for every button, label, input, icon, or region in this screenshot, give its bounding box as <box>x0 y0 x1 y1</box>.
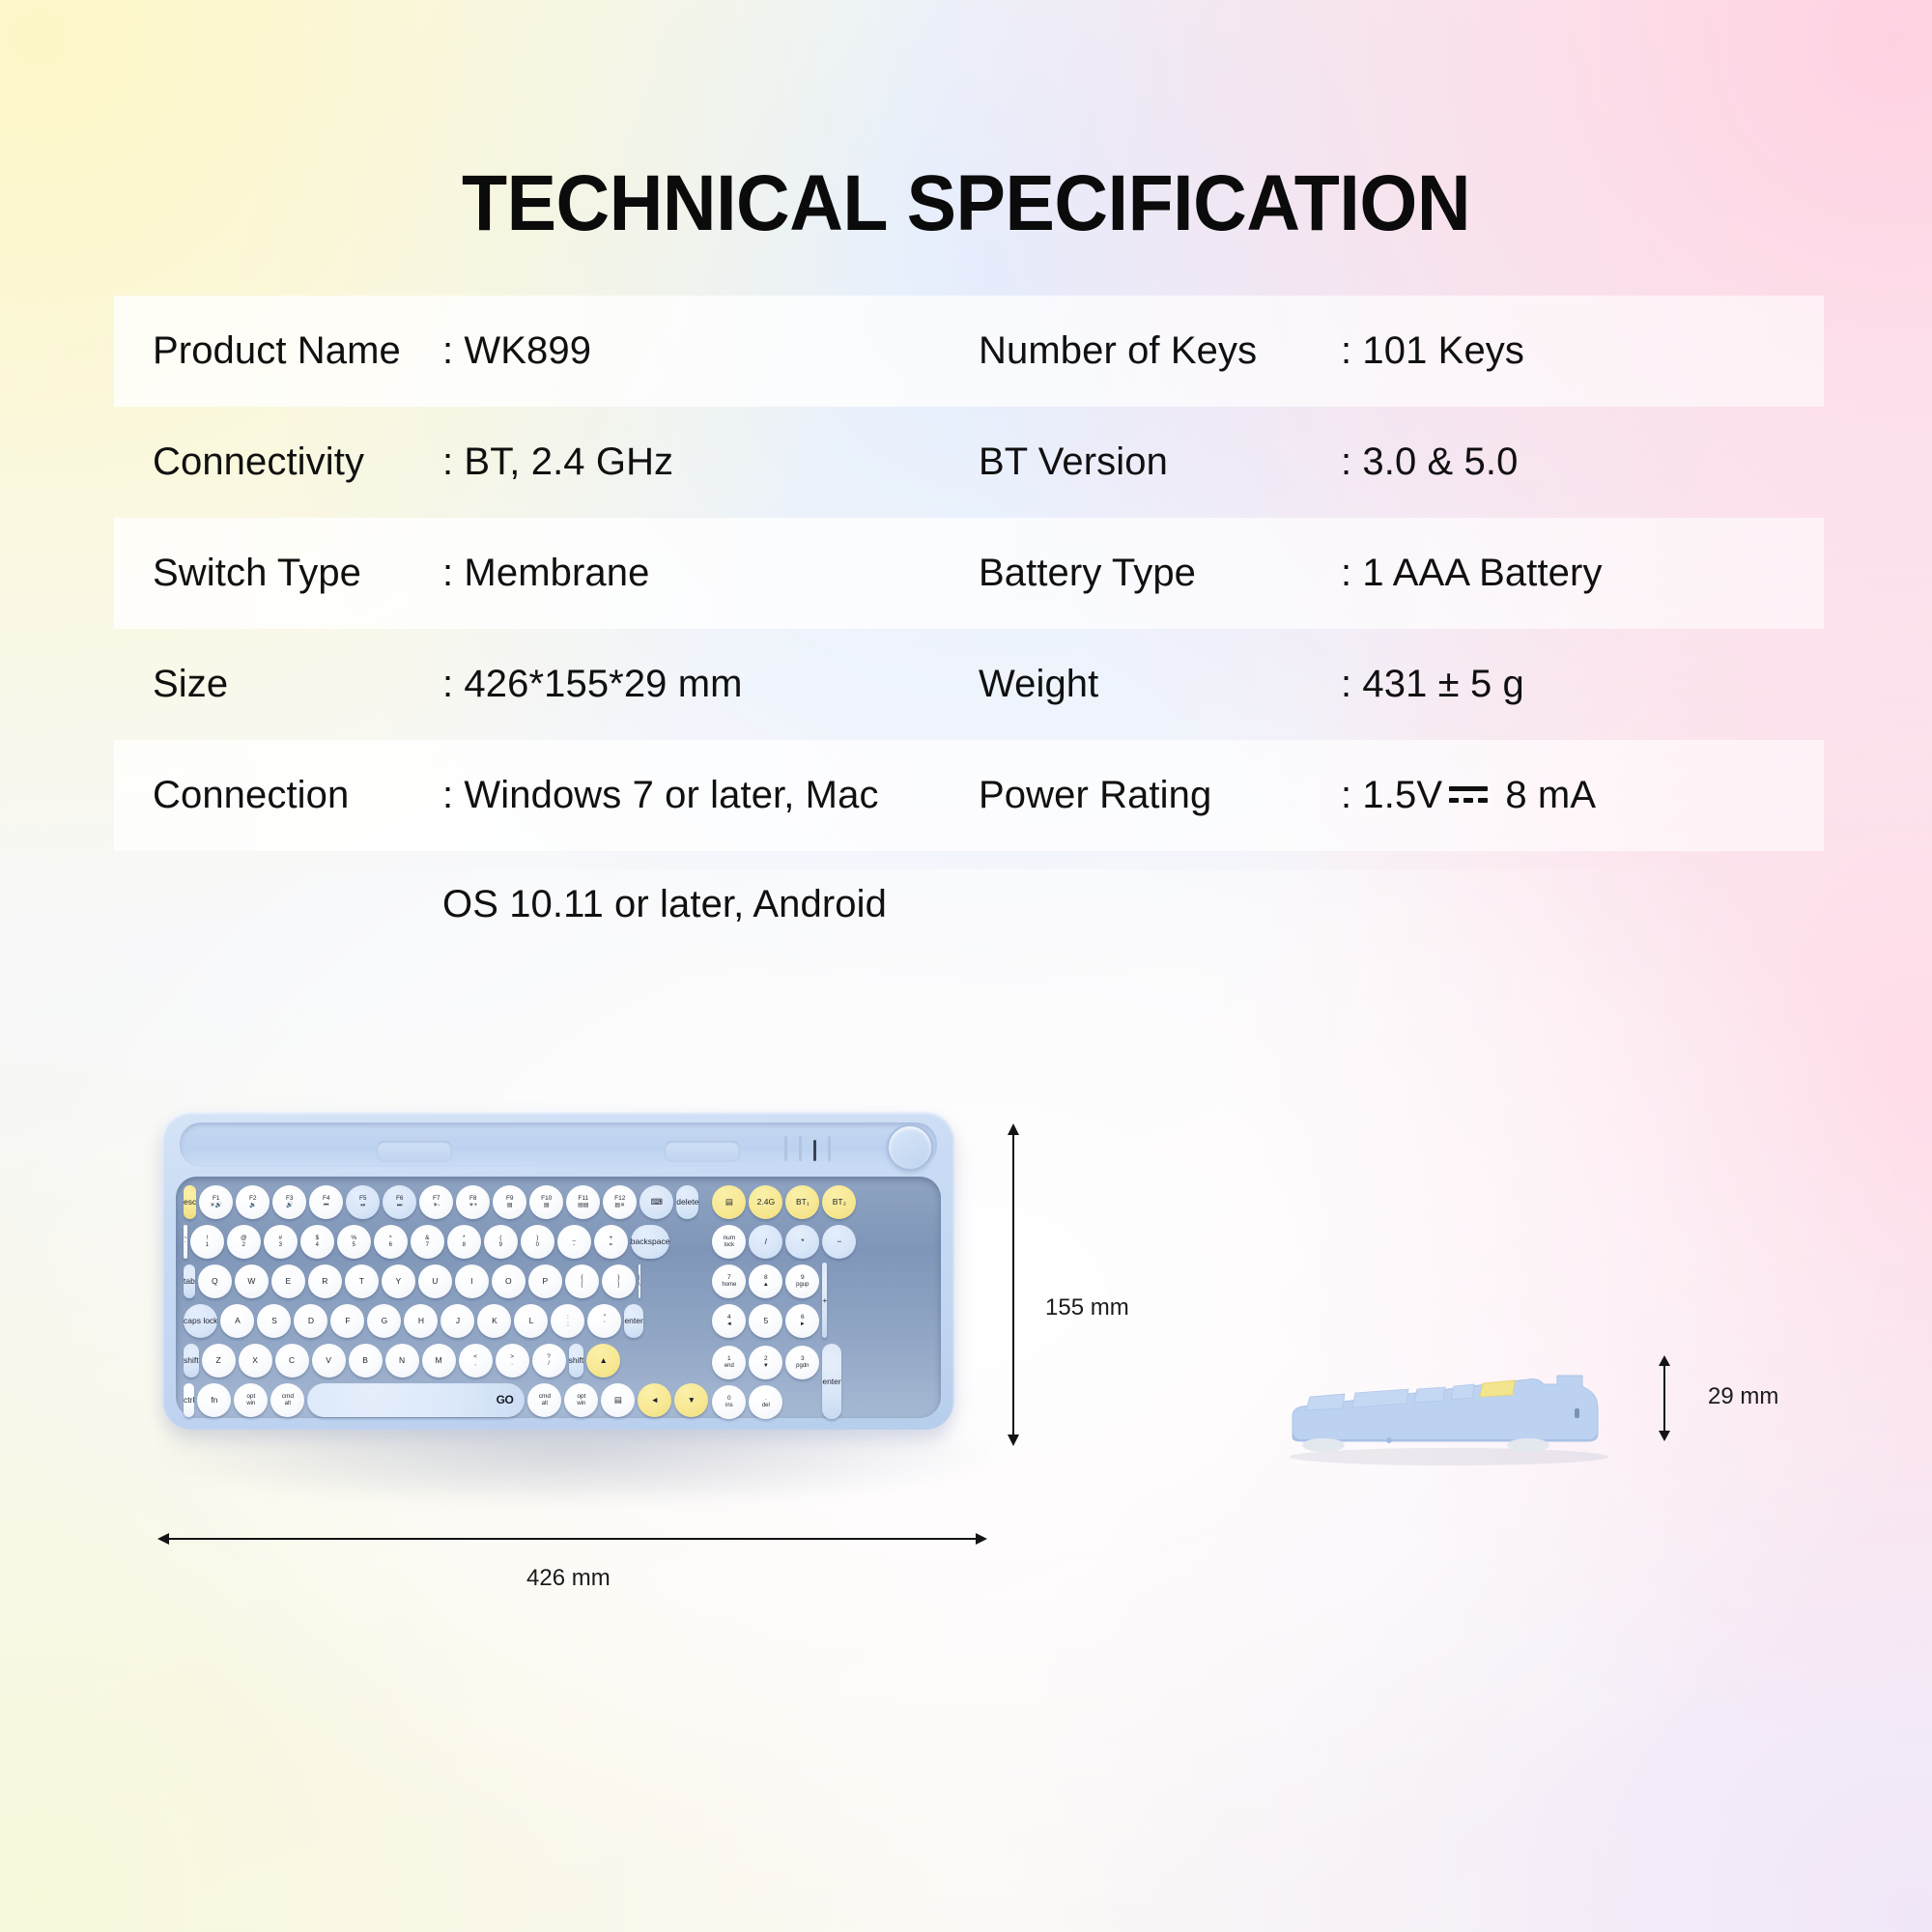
key-2[interactable]: 2▼ <box>749 1346 782 1379</box>
key-top-legend: ? <box>547 1354 551 1361</box>
key-top-legend: } <box>617 1275 619 1282</box>
key-[interactable]: ?/ <box>532 1344 566 1378</box>
key-top-legend: opt <box>246 1394 255 1401</box>
spec-value: : BT, 2.4 GHz <box>442 440 673 484</box>
key-top-legend: cmd <box>539 1394 551 1401</box>
key-top-legend: F11 <box>578 1196 588 1203</box>
key-[interactable]: ⌨ <box>639 1185 673 1219</box>
key-q[interactable]: Q <box>198 1264 232 1298</box>
height-dimension-arrow <box>1012 1125 1014 1444</box>
key-sub-legend: ► <box>800 1321 806 1327</box>
key-sub-legend: home <box>722 1282 736 1288</box>
key-8[interactable]: 8▲ <box>749 1264 782 1298</box>
key-[interactable]: }] <box>602 1264 636 1298</box>
key-legend: fn <box>211 1396 217 1405</box>
key-legend: delete <box>676 1198 698 1207</box>
key-top-legend: F8 <box>469 1196 477 1203</box>
key-top-legend: ! <box>206 1236 208 1242</box>
key-[interactable]: {[ <box>565 1264 599 1298</box>
key-cmd-alt[interactable]: cmdalt <box>527 1383 561 1417</box>
key-5[interactable]: %5 <box>337 1225 371 1259</box>
key-6[interactable]: ^6 <box>374 1225 408 1259</box>
key-m[interactable]: M <box>422 1344 456 1378</box>
numpad-enter-block: 1end2▼3pgdn0ins.delenter <box>712 1344 856 1423</box>
key-8[interactable]: *8 <box>447 1225 481 1259</box>
key-sub-legend: ; <box>567 1321 569 1327</box>
key-legend: C <box>289 1356 295 1365</box>
spec-label: Connectivity <box>153 440 364 484</box>
key-top-legend: . <box>765 1396 767 1403</box>
key-[interactable]: += <box>594 1225 628 1259</box>
keyboard-deck: escF1✕🔊F2🔉F3🔊F4⏮F5⏯F6⏭F7☀-F8☀+F9▤F10▤F11… <box>176 1177 941 1418</box>
width-dimension-arrow <box>159 1538 985 1540</box>
key-top-legend: F4 <box>323 1196 330 1203</box>
spec-label: Number of Keys <box>979 329 1257 373</box>
key-j[interactable]: J <box>440 1304 474 1338</box>
dc-power-icon <box>1449 786 1488 803</box>
key-h[interactable]: H <box>404 1304 438 1338</box>
key-sub-legend: ' <box>604 1321 605 1327</box>
spec-value: : 101 Keys <box>1341 329 1524 373</box>
key-legend: BT₁ <box>796 1198 810 1207</box>
key-legend: E <box>285 1277 291 1286</box>
key-top-legend: $ <box>315 1236 319 1242</box>
key-top-legend: 7 <box>727 1275 731 1282</box>
key-1[interactable]: !1 <box>190 1225 224 1259</box>
spec-value: : 426*155*29 mm <box>442 663 743 706</box>
modifier-row: ctrlfnoptwincmdaltGOcmdaltoptwin▤◄▼ <box>184 1381 708 1419</box>
key-legend: ▤ <box>725 1198 733 1207</box>
key-backspace[interactable]: backspace <box>631 1225 670 1259</box>
height-dimension-label: 155 mm <box>1045 1294 1129 1321</box>
width-dimension-label: 426 mm <box>526 1565 611 1592</box>
key-sub-legend: / <box>548 1361 550 1367</box>
qwerty-row: tabQWERTYUIOP{[}]|\ <box>184 1263 708 1300</box>
key-sub-legend: ` <box>185 1242 186 1248</box>
key-top-legend: F2 <box>249 1196 257 1203</box>
key-[interactable]: + <box>822 1263 827 1338</box>
led-indicator-icon <box>784 1126 871 1161</box>
key-[interactable]: ▼ <box>674 1383 708 1417</box>
spec-value: : Membrane <box>442 552 649 595</box>
key-i[interactable]: I <box>455 1264 489 1298</box>
key-top-legend: 2 <box>764 1356 768 1363</box>
key-opt-win[interactable]: optwin <box>564 1383 598 1417</box>
key-top-legend: F7 <box>433 1196 440 1203</box>
key-top-legend: 4 <box>727 1315 731 1321</box>
spec-value: : 3.0 & 5.0 <box>1341 440 1518 484</box>
key-legend: M <box>436 1356 442 1365</box>
key-top-legend: > <box>510 1354 514 1361</box>
key-caps-lock[interactable]: caps lock <box>184 1304 217 1338</box>
key-l[interactable]: L <box>514 1304 548 1338</box>
key-sub-legend: ◄ <box>726 1321 732 1327</box>
key-top-legend: # <box>278 1236 282 1242</box>
key-legend: V <box>326 1356 331 1365</box>
key-y[interactable]: Y <box>382 1264 415 1298</box>
key-num-lock[interactable]: numlock <box>712 1225 746 1259</box>
key-top-legend: F1 <box>213 1196 220 1203</box>
key-top-legend: F6 <box>396 1196 404 1203</box>
key-sub-legend: = <box>610 1242 613 1248</box>
key-legend: BT₂ <box>833 1198 846 1207</box>
key-legend: Q <box>212 1277 218 1286</box>
key-legend: shift <box>184 1356 199 1365</box>
key-legend: L <box>529 1317 534 1325</box>
key-sub-legend: pgup <box>796 1282 809 1288</box>
key-[interactable]: ~` <box>184 1225 187 1259</box>
spec-row: Product Name: WK899Number of Keys: 101 K… <box>114 296 1824 407</box>
key-legend: shift <box>569 1356 584 1365</box>
key-legend: N <box>399 1356 405 1365</box>
key-d[interactable]: D <box>294 1304 327 1338</box>
key-sub-legend: end <box>724 1363 734 1369</box>
key-sub-legend: ☀+ <box>469 1203 477 1208</box>
keyboard-side-view <box>1285 1352 1613 1468</box>
key-go[interactable]: GO <box>307 1383 525 1417</box>
key-sub-legend: win <box>577 1401 585 1406</box>
key-f8[interactable]: F8☀+ <box>456 1185 490 1219</box>
key-legend: + <box>822 1296 827 1305</box>
key-legend: S <box>271 1317 277 1325</box>
key-shift[interactable]: shift <box>184 1344 199 1378</box>
key-[interactable]: >. <box>496 1344 529 1378</box>
key-f2[interactable]: F2🔉 <box>236 1185 270 1219</box>
key-legend: P <box>542 1277 548 1286</box>
key-top-legend: < <box>473 1354 477 1361</box>
page-title: TECHNICAL SPECIFICATION <box>58 158 1874 249</box>
key-enter[interactable]: enter <box>624 1304 642 1338</box>
brand-label: GO <box>497 1394 514 1406</box>
key-top-legend: num <box>724 1236 736 1242</box>
numpad-row-5: 0ins.del <box>712 1383 819 1421</box>
key-sub-legend: ins <box>725 1403 733 1408</box>
spec-value: : WK899 <box>442 329 591 373</box>
key-top-legend: 6 <box>801 1315 805 1321</box>
key-legend: ◄ <box>651 1396 659 1405</box>
key-w[interactable]: W <box>235 1264 269 1298</box>
key-top-legend: ^ <box>389 1236 392 1242</box>
key-f5[interactable]: F5⏯ <box>346 1185 380 1219</box>
spec-label: Battery Type <box>979 552 1196 595</box>
key-0[interactable]: )0 <box>521 1225 554 1259</box>
key-sub-legend: 2 <box>242 1242 245 1248</box>
key-legend: X <box>252 1356 258 1365</box>
key-sub-legend: - <box>573 1242 575 1248</box>
key-bt[interactable]: BT₂ <box>822 1185 856 1219</box>
key-legend: Y <box>395 1277 401 1286</box>
key-[interactable]: ▲ <box>586 1344 620 1378</box>
key-4[interactable]: $4 <box>300 1225 334 1259</box>
specification-table: Product Name: WK899Number of Keys: 101 K… <box>114 296 1824 851</box>
key-k[interactable]: K <box>477 1304 511 1338</box>
key-[interactable]: ▤ <box>601 1383 635 1417</box>
key-sub-legend: 🔊 <box>286 1203 293 1208</box>
key-top-legend: 3 <box>801 1356 805 1363</box>
key-sub-legend: 7 <box>426 1242 429 1248</box>
key-v[interactable]: V <box>312 1344 346 1378</box>
key-[interactable]: − <box>822 1225 856 1259</box>
key-legend: tab <box>184 1277 195 1286</box>
key-u[interactable]: U <box>418 1264 452 1298</box>
spec-label: BT Version <box>979 440 1168 484</box>
spec-value: : Windows 7 or later, Mac <box>442 774 879 817</box>
connection-continuation-row: OS 10.11 or later, Android <box>114 851 1824 957</box>
key-legend: F <box>345 1317 350 1325</box>
key-legend: backspace <box>631 1237 670 1246</box>
key-sub-legend: ▤▤ <box>578 1203 588 1208</box>
key-legend: Z <box>215 1356 220 1365</box>
key-legend: R <box>322 1277 327 1286</box>
connection-continuation-text: OS 10.11 or later, Android <box>442 883 887 926</box>
key-legend: * <box>801 1237 804 1246</box>
key-top-legend: " <box>604 1315 606 1321</box>
key-legend: J <box>456 1317 460 1325</box>
key-top-legend: _ <box>572 1236 576 1242</box>
key-top-legend: 0 <box>727 1396 731 1403</box>
key-1-end[interactable]: 1end <box>712 1346 746 1379</box>
key-sub-legend: ☀- <box>433 1203 440 1208</box>
key-cmd-alt[interactable]: cmdalt <box>270 1383 304 1417</box>
key-sub-legend: , <box>474 1361 476 1367</box>
key-legend: O <box>505 1277 512 1286</box>
key-top-legend: F12 <box>614 1196 625 1203</box>
key-legend: ▤ <box>614 1396 622 1405</box>
numpad-row-4: 1end2▼3pgdn <box>712 1344 819 1381</box>
key-sub-legend: ▤ <box>544 1203 550 1208</box>
key-7-home[interactable]: 7home <box>712 1264 746 1298</box>
key-[interactable]: <, <box>459 1344 493 1378</box>
key-z[interactable]: Z <box>202 1344 236 1378</box>
spec-row: Switch Type: MembraneBattery Type: 1 AAA… <box>114 518 1824 629</box>
spec-label: Size <box>153 663 228 706</box>
key-b[interactable]: B <box>349 1344 383 1378</box>
key-sub-legend: lock <box>724 1242 735 1248</box>
key-[interactable]: ▤ <box>712 1185 746 1219</box>
key-legend: enter <box>822 1378 840 1386</box>
keyboard-numpad-block: ▤2.4GBT₁BT₂numlock/*−7home8▲9pgup4◄56►+1… <box>712 1183 856 1425</box>
key-delete[interactable]: delete <box>676 1185 698 1219</box>
spec-label: Product Name <box>153 329 401 373</box>
key-top-legend: @ <box>241 1236 247 1242</box>
key-tab[interactable]: tab <box>184 1264 195 1298</box>
key-legend: W <box>247 1277 255 1286</box>
keyboard-side-profile-icon <box>1285 1352 1613 1468</box>
spec-label: Switch Type <box>153 552 361 595</box>
key-sub-legend: ▤ <box>507 1203 513 1208</box>
key-legend: G <box>382 1317 388 1325</box>
key-legend: / <box>765 1237 767 1246</box>
key-5[interactable]: 5 <box>749 1304 782 1338</box>
key-sub-legend: del <box>762 1403 770 1408</box>
key-top-legend: 9 <box>801 1275 805 1282</box>
key-sub-legend: alt <box>542 1401 548 1406</box>
key-top-legend: cmd <box>282 1394 294 1401</box>
key-p[interactable]: P <box>528 1264 562 1298</box>
key-esc[interactable]: esc <box>184 1185 196 1219</box>
spec-row: Size: 426*155*29 mmWeight: 431 ± 5 g <box>114 629 1824 740</box>
keyboard-body: escF1✕🔊F2🔉F3🔊F4⏮F5⏯F6⏭F7☀-F8☀+F9▤F10▤F11… <box>162 1111 954 1430</box>
key-[interactable]: _- <box>557 1225 591 1259</box>
key-f3[interactable]: F3🔊 <box>272 1185 306 1219</box>
key-x[interactable]: X <box>239 1344 272 1378</box>
spec-row: Connectivity: BT, 2.4 GHzBT Version: 3.0… <box>114 407 1824 518</box>
stand-notch-left <box>377 1141 452 1162</box>
key-9-pgup[interactable]: 9pgup <box>785 1264 819 1298</box>
key-sub-legend: 1 <box>206 1242 209 1248</box>
key-sub-legend: ▤✕ <box>614 1203 625 1208</box>
key-top-legend: F5 <box>359 1196 367 1203</box>
key-[interactable]: :; <box>551 1304 584 1338</box>
key-sub-legend: ⏭ <box>397 1203 402 1208</box>
function-row: escF1✕🔊F2🔉F3🔊F4⏮F5⏯F6⏭F7☀-F8☀+F9▤F10▤F11… <box>184 1183 708 1221</box>
spec-value: : 431 ± 5 g <box>1341 663 1524 706</box>
key-[interactable]: / <box>749 1225 782 1259</box>
key-top-legend: F9 <box>506 1196 514 1203</box>
key-sub-legend: 8 <box>463 1242 466 1248</box>
key-top-legend: + <box>609 1236 612 1242</box>
key-sub-legend: ] <box>617 1282 619 1288</box>
key-f4[interactable]: F4⏮ <box>309 1185 343 1219</box>
key-legend: 2.4G <box>757 1198 775 1207</box>
stand-notch-right <box>665 1141 740 1162</box>
key-sub-legend: alt <box>285 1401 291 1406</box>
key-top-legend: 1 <box>727 1356 731 1363</box>
shift-row: shiftZXCVBNM<,>.?/shift▲ <box>184 1342 708 1379</box>
key-sub-legend: ⏮ <box>324 1203 328 1208</box>
key-sub-legend: ✕🔊 <box>210 1203 222 1208</box>
key-f7[interactable]: F7☀- <box>419 1185 453 1219</box>
key-legend: K <box>492 1317 497 1325</box>
key-sub-legend: 0 <box>536 1242 539 1248</box>
key-enter[interactable]: enter <box>822 1344 840 1419</box>
key-[interactable]: |\ <box>639 1264 640 1298</box>
key-sub-legend: ▲ <box>763 1282 769 1288</box>
key-7[interactable]: &7 <box>411 1225 444 1259</box>
key-r[interactable]: R <box>308 1264 342 1298</box>
numpad-fn-row: ▤2.4GBT₁BT₂ <box>712 1183 856 1221</box>
key-legend: H <box>418 1317 424 1325</box>
key-legend: caps lock <box>184 1317 217 1325</box>
key-s[interactable]: S <box>257 1304 291 1338</box>
key-6[interactable]: 6► <box>785 1304 819 1338</box>
key-0-ins[interactable]: 0ins <box>712 1385 746 1419</box>
key-2[interactable]: @2 <box>227 1225 261 1259</box>
spec-label: Power Rating <box>979 774 1211 817</box>
key-e[interactable]: E <box>271 1264 305 1298</box>
key-legend: ▼ <box>688 1396 696 1405</box>
key-4[interactable]: 4◄ <box>712 1304 746 1338</box>
key-sub-legend: pgdn <box>796 1363 809 1369</box>
key-c[interactable]: C <box>275 1344 309 1378</box>
key-f1[interactable]: F1✕🔊 <box>199 1185 233 1219</box>
key-sub-legend: 3 <box>279 1242 282 1248</box>
key-legend: 5 <box>763 1317 768 1325</box>
key-n[interactable]: N <box>385 1344 419 1378</box>
key-bt[interactable]: BT₁ <box>785 1185 819 1219</box>
key-sub-legend: 5 <box>353 1242 355 1248</box>
key-3[interactable]: #3 <box>264 1225 298 1259</box>
key-top-legend: ) <box>536 1236 538 1242</box>
key-legend: enter <box>624 1317 642 1325</box>
key-[interactable]: ◄ <box>638 1383 671 1417</box>
spec-label: Connection <box>153 774 349 817</box>
spec-value: : 1.5V 8 mA <box>1341 774 1596 817</box>
thickness-dimension-label: 29 mm <box>1708 1383 1778 1410</box>
key-3-pgdn[interactable]: 3pgdn <box>785 1346 819 1379</box>
key-top-legend: % <box>351 1236 356 1242</box>
key-sub-legend: win <box>246 1401 255 1406</box>
key-2-4g[interactable]: 2.4G <box>749 1185 782 1219</box>
key-legend: D <box>308 1317 314 1325</box>
key-top-legend: | <box>639 1275 640 1282</box>
key-top-legend: F3 <box>286 1196 294 1203</box>
rotary-dial-icon <box>887 1124 933 1171</box>
key-opt-win[interactable]: optwin <box>234 1383 268 1417</box>
key-shift[interactable]: shift <box>569 1344 584 1378</box>
key-top-legend: { <box>581 1275 582 1282</box>
key-9[interactable]: (9 <box>484 1225 518 1259</box>
key-fn[interactable]: fn <box>197 1383 231 1417</box>
key-top-legend: & <box>425 1236 429 1242</box>
key-legend: B <box>362 1356 368 1365</box>
key-legend: ctrl <box>184 1396 194 1405</box>
key-legend: esc <box>184 1198 196 1207</box>
key-top-legend: ( <box>499 1236 501 1242</box>
numpad-row-3: 4◄56► <box>712 1302 819 1340</box>
spec-value: : 1 AAA Battery <box>1341 552 1603 595</box>
key-f12[interactable]: F12▤✕ <box>603 1185 637 1219</box>
spec-label: Weight <box>979 663 1098 706</box>
key-g[interactable]: G <box>367 1304 401 1338</box>
key-a[interactable]: A <box>220 1304 254 1338</box>
key-f10[interactable]: F10▤ <box>529 1185 563 1219</box>
key-top-legend: F10 <box>541 1196 552 1203</box>
key-legend: ▲ <box>599 1356 607 1365</box>
key-del[interactable]: .del <box>749 1385 782 1419</box>
key-legend: U <box>432 1277 438 1286</box>
numpad-row-2: 7home8▲9pgup <box>712 1263 819 1300</box>
key-ctrl[interactable]: ctrl <box>184 1383 194 1417</box>
key-top-legend: opt <box>577 1394 585 1401</box>
key-f6[interactable]: F6⏭ <box>383 1185 416 1219</box>
key-sub-legend: \ <box>639 1282 640 1288</box>
spec-row: Connection: Windows 7 or later, MacPower… <box>114 740 1824 851</box>
keyboard-top-view: escF1✕🔊F2🔉F3🔊F4⏮F5⏯F6⏭F7☀-F8☀+F9▤F10▤F11… <box>162 1111 964 1439</box>
key-[interactable]: * <box>785 1225 819 1259</box>
key-[interactable]: "' <box>587 1304 621 1338</box>
key-t[interactable]: T <box>345 1264 379 1298</box>
numpad-plus-block: 7home8▲9pgup4◄56►+ <box>712 1263 856 1342</box>
key-legend: A <box>235 1317 241 1325</box>
keyboard-main-block: escF1✕🔊F2🔉F3🔊F4⏮F5⏯F6⏭F7☀-F8☀+F9▤F10▤F11… <box>184 1183 708 1425</box>
key-f9[interactable]: F9▤ <box>493 1185 526 1219</box>
key-top-legend: ~ <box>184 1236 187 1242</box>
home-row: caps lockASDFGHJKL:;"'enter <box>184 1302 708 1340</box>
key-f11[interactable]: F11▤▤ <box>566 1185 600 1219</box>
key-sub-legend: ⏯ <box>360 1203 365 1208</box>
key-f[interactable]: F <box>330 1304 364 1338</box>
key-sub-legend: 9 <box>499 1242 502 1248</box>
key-top-legend: * <box>463 1236 466 1242</box>
key-sub-legend: [ <box>581 1282 582 1288</box>
number-row: ~`!1@2#3$4%5^6&7*8(9)0_-+=backspace <box>184 1223 708 1261</box>
key-o[interactable]: O <box>492 1264 526 1298</box>
key-sub-legend: 🔉 <box>249 1203 256 1208</box>
key-legend: T <box>359 1277 364 1286</box>
numpad-row-1: numlock/*− <box>712 1223 856 1261</box>
key-sub-legend: 4 <box>316 1242 319 1248</box>
